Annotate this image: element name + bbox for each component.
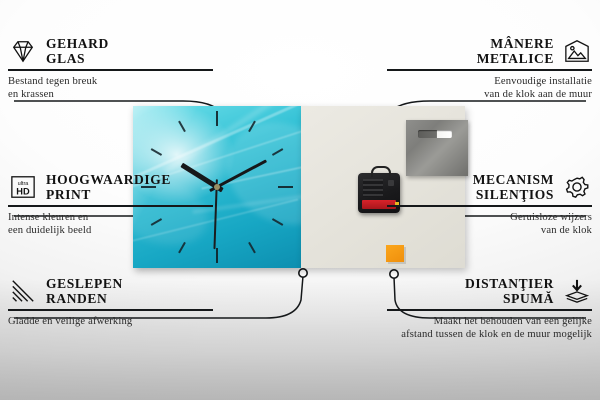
callout-title-line1: HOOGWAARDIGE [46, 172, 171, 187]
callout-desc-line1: Gladde en veilige afwerking [8, 315, 213, 329]
callout-metal-hangers: MÂNERE METALICE Eenvoudige installatie v… [387, 36, 592, 102]
callout-title-line1: GESLEPEN [46, 276, 123, 291]
callout-desc-line1: Bestand tegen breuk [8, 75, 213, 89]
callout-title-line1: MÂNERE [477, 36, 554, 51]
hand-cap [214, 184, 220, 190]
callout-rule [387, 205, 592, 207]
callout-beveled-edges: GESLEPEN RANDEN Gladde en veilige afwerk… [8, 276, 213, 328]
callout-rule [8, 69, 213, 71]
gear-icon [562, 174, 592, 200]
callout-tempered-glass: GEHARD GLAS Bestand tegen breuk en krass… [8, 36, 213, 102]
movement-detail [363, 179, 383, 197]
callout-title-line2: SILENŢIOS [473, 187, 554, 202]
callout-title-line1: GEHARD [46, 36, 109, 51]
callout-title-line2: PRINT [46, 187, 171, 202]
callout-hq-print: ultra HD HOOGWAARDIGE PRINT Intense kleu… [8, 172, 213, 238]
diamond-icon [8, 38, 38, 64]
callout-title-line2: RANDEN [46, 291, 123, 306]
ultra-hd-icon: ultra HD [8, 174, 38, 200]
callout-rule [8, 309, 213, 311]
infographic-canvas: GEHARD GLAS Bestand tegen breuk en krass… [0, 0, 600, 400]
callout-rule [8, 205, 213, 207]
callout-desc-line2: en krassen [8, 88, 213, 102]
callout-desc-line1: Eenvoudige installatie [387, 75, 592, 89]
beveled-edges-icon [8, 278, 38, 304]
foam-spacer-icon [562, 278, 592, 304]
metal-hanger-plate [406, 120, 468, 176]
callout-desc-line1: Intense kleuren en [8, 211, 213, 225]
picture-hanging-icon [562, 38, 592, 64]
callout-desc-line1: Geruisloze wijzers [387, 211, 592, 225]
callout-rule [387, 309, 592, 311]
callout-title-line2: GLAS [46, 51, 109, 66]
callout-title-line1: MECANISM [473, 172, 554, 187]
svg-text:HD: HD [16, 187, 30, 197]
callout-desc-line1: Maakt het behouden van een gelijke [387, 315, 592, 329]
callout-desc-line2: afstand tussen de klok en de muur mogeli… [387, 328, 592, 342]
hanger-keyhole-slot [418, 130, 452, 138]
callout-title-line2: SPUMĂ [465, 291, 554, 306]
callout-title-line2: METALICE [477, 51, 554, 66]
callout-desc-line2: een duidelijk beeld [8, 224, 213, 238]
callout-foam-spacer: DISTANŢIER SPUMĂ Maakt het behouden van … [387, 276, 592, 342]
orange-foam-spacer [386, 245, 404, 262]
callout-silent-mechanism: MECANISM SILENŢIOS Geruisloze wijzers va… [387, 172, 592, 238]
callout-desc-line2: van de klok [387, 224, 592, 238]
callout-title-line1: DISTANŢIER [465, 276, 554, 291]
callout-desc-line2: van de klok aan de muur [387, 88, 592, 102]
callout-rule [387, 69, 592, 71]
